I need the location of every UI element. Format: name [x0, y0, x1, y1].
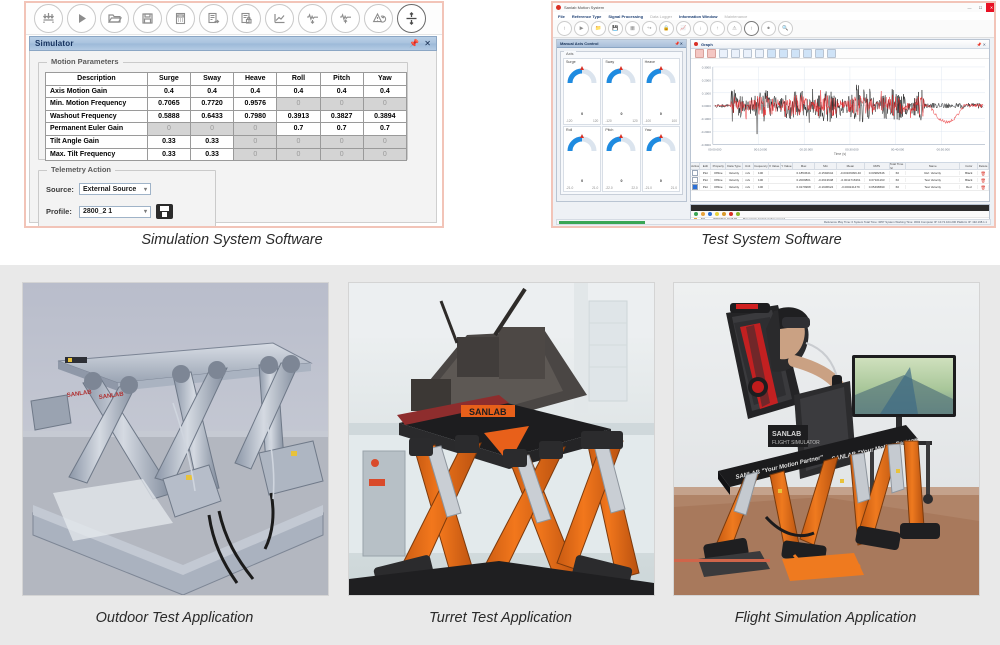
table-cell: m/s: [743, 171, 754, 175]
gauge-dial: [646, 65, 676, 85]
param-cell: 0: [363, 148, 406, 161]
profile-select[interactable]: 2800_2 1 ▾: [79, 206, 151, 218]
gauge-dial: [646, 133, 676, 153]
svg-text:00:20:000: 00:20:000: [800, 147, 814, 151]
figure-root: Simulator 📌 ✕ Motion Parameters Descript…: [0, 0, 1000, 645]
param-cell[interactable]: 0.33: [147, 148, 190, 161]
column-header-roll: Roll: [277, 73, 320, 86]
svg-text:00:30:000: 00:30:000: [845, 147, 859, 151]
maximize-button[interactable]: ☐: [975, 3, 986, 12]
axis-motion-icon[interactable]: ↕: [557, 21, 572, 36]
column-header-yaw: Yaw: [363, 73, 406, 86]
axis-group: Axis Surge0-120120Sway0-120120Heave0-100…: [560, 51, 683, 195]
active-checkbox[interactable]: [692, 170, 698, 176]
column-header: Color: [960, 163, 978, 169]
signal-table: ActiveEditPropertyData TypeUnitFrequency…: [691, 162, 989, 190]
calculator-icon[interactable]: [166, 4, 195, 33]
panel-title: Manual Axis Control: [560, 41, 599, 46]
gauge-roll[interactable]: Roll0-21.021.0: [563, 126, 601, 193]
menu-file[interactable]: File: [558, 14, 565, 19]
gauge-sway[interactable]: Sway0-120120: [602, 58, 640, 125]
table-cell: 60: [890, 185, 906, 189]
menu-maintenance: Maintenance: [725, 14, 748, 19]
table-cell: 0.07101193: [865, 178, 890, 182]
table-cell: Black: [960, 178, 978, 182]
svg-text:00:50:000: 00:50:000: [937, 147, 951, 151]
table-row[interactable]: PlotOfflineVelocitym/s1000.0179968-0.193…: [691, 184, 989, 191]
telemetry-action-group: Telemetry Action Source: External Source…: [38, 170, 216, 228]
table-cell: m/s: [743, 178, 754, 182]
table-cell: 0.03982646: [865, 171, 890, 175]
table-cell: Velocity: [726, 171, 742, 175]
param-cell[interactable]: 0.7: [277, 123, 320, 136]
gauge-label: Surge: [564, 60, 576, 64]
export-report-icon[interactable]: [199, 4, 228, 33]
param-cell: 0: [234, 135, 277, 148]
legend-icon[interactable]: [767, 49, 776, 58]
gauge-min: -21.0: [645, 186, 652, 190]
param-cell[interactable]: 0.4: [363, 85, 406, 98]
param-cell: 0: [320, 98, 363, 111]
svg-text:-0.2000: -0.2000: [701, 130, 711, 134]
table-row: Washout Frequency0.58880.64330.79800.391…: [46, 110, 407, 123]
param-cell[interactable]: 0.7720: [190, 98, 233, 111]
gauge-max: 21.0: [592, 186, 598, 190]
gauge-value: 0: [660, 179, 662, 183]
active-checkbox[interactable]: [692, 184, 698, 190]
column-header-surge: Surge: [147, 73, 190, 86]
table-cell: m/s: [743, 185, 754, 189]
menu-information-window[interactable]: Information Window: [679, 14, 717, 19]
zoom-out-icon[interactable]: [731, 49, 740, 58]
gauge-label: Roll: [564, 128, 572, 132]
caption-turret-test: Turret Test Application: [348, 610, 653, 626]
table-cell: Red: [960, 185, 978, 189]
param-cell: 0: [277, 135, 320, 148]
gauge-dial: [606, 133, 636, 153]
source-value: External Source: [83, 186, 136, 193]
axis-y-icon[interactable]: [815, 49, 824, 58]
table-cell: -0.1592644: [815, 171, 837, 175]
gauge-max: 22.0: [631, 186, 637, 190]
column-header-sway: Sway: [190, 73, 233, 86]
param-cell: 0: [190, 123, 233, 136]
record-icon[interactable]: ⏺: [761, 21, 776, 36]
active-cell[interactable]: [691, 177, 700, 183]
gauge-max: 21.0: [671, 186, 677, 190]
menu-data-logger: Data Logger: [650, 14, 672, 19]
gauge-dial: [567, 65, 597, 85]
table-cell: -0.0011716361: [837, 178, 865, 182]
manual-axis-control-titlebar: Manual Axis Control 📌✕: [557, 40, 686, 48]
param-cell[interactable]: 0.4: [320, 85, 363, 98]
table-cell: Test Velocity: [906, 185, 960, 189]
gauge-label: Sway: [603, 60, 614, 64]
source-select[interactable]: External Source ▾: [79, 183, 151, 195]
gauge-min: -100: [645, 119, 651, 123]
gauge-value: 0: [620, 179, 622, 183]
param-cell[interactable]: 0.7065: [147, 98, 190, 111]
message-log-toolbar: [691, 211, 989, 218]
gauge-dial: [567, 133, 597, 153]
delete-cell[interactable]: 🗑: [978, 185, 989, 190]
param-cell[interactable]: 0.7980: [234, 110, 277, 123]
svg-text:0.3000: 0.3000: [702, 65, 711, 69]
svg-text:SANLAB: SANLAB: [772, 431, 801, 438]
table-row: Tilt Angle Gain0.330.330000: [46, 135, 407, 148]
active-cell[interactable]: [691, 184, 700, 190]
row-label: Washout Frequency: [46, 110, 148, 123]
menu-reference-type[interactable]: Reference Type: [572, 14, 602, 19]
pin-icon[interactable]: 📌 ✕: [977, 42, 986, 47]
outdoor-hexapod-photo: SANLAB SANLAB: [22, 282, 329, 596]
close-icon[interactable]: ✕: [424, 40, 431, 48]
play-icon[interactable]: ▶: [574, 21, 589, 36]
row-label: Permanent Euler Gain: [46, 123, 148, 136]
svg-text:00:40:000: 00:40:000: [891, 147, 905, 151]
param-cell[interactable]: 0.3913: [277, 110, 320, 123]
gauge-label: Heave: [643, 60, 655, 64]
copy-icon[interactable]: [715, 212, 719, 216]
svg-text:SANLAB: SANLAB: [469, 407, 507, 417]
source-row: Source: External Source ▾: [39, 183, 215, 195]
heave-axis-icon[interactable]: [397, 4, 426, 33]
caption-outdoor-test: Outdoor Test Application: [22, 610, 327, 626]
table-cell: 60: [890, 178, 906, 182]
svg-text:00:10:000: 00:10:000: [754, 147, 768, 151]
param-cell[interactable]: 0.7: [320, 123, 363, 136]
param-cell: 0: [320, 148, 363, 161]
signal-down-icon[interactable]: [298, 4, 327, 33]
param-cell[interactable]: 0.33: [190, 135, 233, 148]
active-cell[interactable]: [691, 170, 700, 176]
status-bar: Reference Play Time: 0 System Total Time…: [556, 219, 991, 225]
signal-down-icon[interactable]: ↓: [693, 21, 708, 36]
table-row[interactable]: PlotOfflineVelocitym/s1000.2009801-0.291…: [691, 177, 989, 184]
warning-filter-icon[interactable]: [701, 212, 705, 216]
manual-axis-control-panel: Manual Axis Control 📌✕ Axis Surge0-12012…: [556, 39, 687, 202]
graph-icon: [694, 42, 698, 46]
column-header: Max: [793, 163, 815, 169]
gauge-dial: [606, 65, 636, 85]
signal-up-icon[interactable]: [331, 4, 360, 33]
progress-bar: [559, 221, 645, 224]
column-header: Mean: [837, 163, 865, 169]
param-cell[interactable]: 0.3894: [363, 110, 406, 123]
gauge-surge[interactable]: Surge0-120120: [563, 58, 601, 125]
table-row: Max. Tilt Frequency0.330.330000: [46, 148, 407, 161]
table-cell: 100: [754, 178, 769, 182]
axis-x-icon[interactable]: [803, 49, 812, 58]
column-header: X Value: [769, 163, 781, 169]
app-logo-icon: [556, 5, 561, 10]
gauge-max: 120: [593, 119, 598, 123]
simulator-panel-titlebar: Simulator 📌 ✕: [29, 36, 437, 51]
cursor-icon[interactable]: [755, 49, 764, 58]
table-cell: -0.1936624: [815, 185, 837, 189]
table-cell: 60: [890, 171, 906, 175]
close-button[interactable]: ✕: [986, 3, 996, 12]
param-cell[interactable]: 0.3827: [320, 110, 363, 123]
table-cell: Test Velocity: [906, 178, 960, 182]
chart-svg: 0.30000.20000.10000.0000-0.1000-0.2000-0…: [691, 59, 989, 154]
column-header-description: Description: [46, 73, 148, 86]
heave-axis-icon[interactable]: ↕: [744, 21, 759, 36]
trash-icon[interactable]: 🗑: [981, 185, 986, 190]
graph-panel: Graph 📌 ✕: [690, 39, 990, 202]
row-label: Tilt Angle Gain: [46, 135, 148, 148]
param-cell[interactable]: 0.33: [147, 135, 190, 148]
motion-parameters-title: Motion Parameters: [47, 57, 123, 66]
chart-icon[interactable]: [265, 4, 294, 33]
menu-signal-processing[interactable]: Signal Processing: [608, 14, 643, 19]
chevron-down-icon: ▾: [144, 186, 147, 193]
search-icon[interactable]: 🔍: [778, 21, 793, 36]
axis-group-label: Axis: [564, 51, 576, 56]
table-cell: Velocity: [726, 178, 742, 182]
param-cell: 0: [277, 98, 320, 111]
calculator-icon[interactable]: ▦: [625, 21, 640, 36]
column-header: Unit: [743, 163, 754, 169]
test-software-screenshot: Sanlab Motion System — ☐ ✕ FileReference…: [551, 1, 996, 228]
table-cell: Offline: [711, 185, 726, 189]
refresh-icon[interactable]: [736, 212, 740, 216]
play-icon[interactable]: [67, 4, 96, 33]
table-cell: Plot: [700, 178, 711, 182]
table-cell: Velocity: [726, 185, 742, 189]
table-cell: 100: [754, 185, 769, 189]
save-profile-icon[interactable]: [156, 204, 173, 219]
column-header: Active: [691, 163, 700, 169]
gauge-label: Yaw: [643, 128, 652, 132]
delete-cell[interactable]: 🗑: [978, 178, 989, 183]
turret-hexapod-photo: SANLAB: [348, 282, 655, 596]
table-cell: 0.2009801: [793, 178, 815, 182]
simulator-panel-body: Motion Parameters DescriptionSurgeSwayHe…: [29, 51, 437, 223]
table-row: Permanent Euler Gain0000.70.70.7: [46, 123, 407, 136]
column-header: Edit: [700, 163, 711, 169]
svg-text:0.2000: 0.2000: [702, 78, 711, 82]
lock-report-icon[interactable]: [232, 4, 261, 33]
gauge-min: -120: [605, 119, 611, 123]
chevron-down-icon: ▾: [144, 208, 147, 215]
warning-reset-icon[interactable]: ⚠: [727, 21, 742, 36]
param-cell[interactable]: 0.4: [190, 85, 233, 98]
column-header: Min: [815, 163, 837, 169]
column-header: Name: [906, 163, 960, 169]
gauge-label: Pitch: [603, 128, 613, 132]
param-cell: 0: [320, 135, 363, 148]
source-label: Source:: [46, 185, 74, 194]
flight-simulator-photo: SANLAB FLIGHT SIMULATOR SANLAB "Your Mot…: [673, 282, 980, 596]
panel-title: Simulator: [30, 39, 74, 48]
gauge-value: 0: [620, 112, 622, 116]
column-header: Total Time (s): [890, 163, 906, 169]
param-cell[interactable]: 0.9576: [234, 98, 277, 111]
pin-icon[interactable]: 📌: [409, 40, 419, 48]
folder-open-icon[interactable]: [100, 4, 129, 33]
sim-toolbar: [26, 3, 444, 35]
gauge-min: -22.0: [605, 186, 612, 190]
clear-icon[interactable]: [729, 212, 733, 216]
signal-up-icon[interactable]: ↑: [710, 21, 725, 36]
gauge-value: 0: [581, 112, 583, 116]
telemetry-action-title: Telemetry Action: [47, 165, 115, 174]
marker-icon[interactable]: [791, 49, 800, 58]
delete-cell[interactable]: 🗑: [978, 171, 989, 176]
chart-toolbar: [691, 49, 989, 59]
pin-icon[interactable]: 📌✕: [675, 41, 683, 46]
table-cell: Offline: [711, 171, 726, 175]
column-header: Frequency: [754, 163, 769, 169]
panel-title: Graph: [701, 42, 713, 47]
window-title: Sanlab Motion System: [564, 5, 604, 10]
motion-parameters-table: DescriptionSurgeSwayHeaveRollPitchYaw Ax…: [45, 72, 407, 161]
svg-text:0.0000: 0.0000: [702, 104, 711, 108]
svg-text:-0.1000: -0.1000: [701, 117, 711, 121]
svg-text:-0.3000: -0.3000: [701, 143, 711, 147]
row-label: Axis Motion Gain: [46, 85, 148, 98]
gauge-max: 120: [632, 119, 637, 123]
table-cell: 0.05498690: [865, 185, 890, 189]
graph-panel-titlebar: Graph 📌 ✕: [691, 40, 989, 49]
table-cell: Offline: [711, 178, 726, 182]
save-disk-icon[interactable]: [133, 4, 162, 33]
zoom-in-icon[interactable]: [719, 49, 728, 58]
profile-label: Profile:: [46, 207, 74, 216]
trash-icon[interactable]: 🗑: [981, 178, 986, 183]
table-cell: -0.000241479: [837, 185, 865, 189]
param-cell: 0: [147, 123, 190, 136]
column-header: Delete: [978, 163, 989, 169]
param-cell[interactable]: 0.5888: [147, 110, 190, 123]
test-toolbar: ↕▶📁💾▦↪🔒📈↓↑⚠↕⏺🔍: [553, 20, 996, 38]
warning-reset-icon[interactable]: [364, 4, 393, 33]
gauge-min: -21.0: [566, 186, 573, 190]
caption-simulation-software: Simulation System Software: [24, 232, 440, 248]
gauge-max: 100: [672, 119, 677, 123]
column-header: Property: [711, 163, 726, 169]
motion-parameters-group: Motion Parameters DescriptionSurgeSwayHe…: [38, 62, 408, 160]
table-row[interactable]: PlotOfflineVelocitym/s1000.1853641-0.159…: [691, 170, 989, 177]
table-cell: 0.0179968: [793, 185, 815, 189]
column-header: Y Value: [781, 163, 793, 169]
row-label: Min. Motion Frequency: [46, 98, 148, 111]
zoom-fit-icon[interactable]: [743, 49, 752, 58]
param-cell: 0: [363, 135, 406, 148]
settings-icon[interactable]: [827, 49, 836, 58]
svg-text:FLIGHT SIMULATOR: FLIGHT SIMULATOR: [772, 440, 820, 446]
param-cell: 0: [277, 148, 320, 161]
axis-motion-icon[interactable]: [34, 4, 63, 33]
table-row: Axis Motion Gain0.40.40.40.40.40.4: [46, 85, 407, 98]
chart-icon[interactable]: 📈: [676, 21, 691, 36]
param-cell[interactable]: 0.6433: [190, 110, 233, 123]
column-header-pitch: Pitch: [320, 73, 363, 86]
column-header: Data Type: [726, 163, 742, 169]
pan-icon[interactable]: [695, 49, 704, 58]
pan-back-icon[interactable]: [707, 49, 716, 58]
gauge-value: 0: [581, 179, 583, 183]
param-cell: 0: [363, 98, 406, 111]
param-cell[interactable]: 0.33: [190, 148, 233, 161]
export-icon[interactable]: [722, 212, 726, 216]
column-header-heave: Heave: [234, 73, 277, 86]
table-cell: 0.1853641: [793, 171, 815, 175]
table-cell: -0.2913648: [815, 178, 837, 182]
table-cell: Ref. Velocity: [906, 171, 960, 175]
profile-row: Profile: 2800_2 1 ▾: [39, 204, 215, 219]
table-cell: Plot: [700, 185, 711, 189]
simulation-software-screenshot: Simulator 📌 ✕ Motion Parameters Descript…: [24, 1, 444, 228]
gauge-heave[interactable]: Heave0-100100: [642, 58, 680, 125]
param-cell: 0: [234, 148, 277, 161]
table-cell: Plot: [700, 171, 711, 175]
trash-icon[interactable]: 🗑: [981, 171, 986, 176]
table-cell: -0.00166099.40: [837, 171, 865, 175]
table-header-row: ActiveEditPropertyData TypeUnitFrequency…: [691, 163, 989, 170]
minimize-button[interactable]: —: [964, 3, 975, 12]
table-row: Min. Motion Frequency0.70650.77200.95760…: [46, 98, 407, 111]
row-label: Max. Tilt Frequency: [46, 148, 148, 161]
param-cell[interactable]: 0.4: [234, 85, 277, 98]
column-header: RMS: [865, 163, 890, 169]
info-filter-icon[interactable]: [694, 212, 698, 216]
param-cell[interactable]: 0.4: [147, 85, 190, 98]
param-cell: 0: [234, 123, 277, 136]
gauge-min: -120: [566, 119, 572, 123]
caption-flight-simulation: Flight Simulation Application: [673, 610, 978, 626]
param-cell[interactable]: 0.7: [363, 123, 406, 136]
lock-report-icon[interactable]: 🔒: [659, 21, 674, 36]
folder-open-icon[interactable]: 📁: [591, 21, 606, 36]
gauge-pitch[interactable]: Pitch0-22.022.0: [602, 126, 640, 193]
table-header-row: DescriptionSurgeSwayHeaveRollPitchYaw: [46, 73, 407, 86]
save-disk-icon[interactable]: 💾: [608, 21, 623, 36]
gauge-value: 0: [660, 112, 662, 116]
profile-value: 2800_2 1: [83, 208, 112, 215]
table-cell: Black: [960, 171, 978, 175]
gauge-yaw[interactable]: Yaw0-21.021.0: [642, 126, 680, 193]
select-all-icon[interactable]: [708, 212, 712, 216]
param-cell[interactable]: 0.4: [277, 85, 320, 98]
svg-text:00:00:000: 00:00:000: [708, 147, 722, 151]
status-text: Reference Play Time: 0 System Total Time…: [824, 220, 990, 224]
export-report-icon[interactable]: ↪: [642, 21, 657, 36]
active-checkbox[interactable]: [692, 177, 698, 183]
svg-text:0.1000: 0.1000: [702, 91, 711, 95]
velocity-chart: 0.30000.20000.10000.0000-0.1000-0.2000-0…: [691, 59, 989, 155]
caption-test-software: Test System Software: [551, 232, 992, 248]
table-cell: 100: [754, 171, 769, 175]
line-style-icon[interactable]: [779, 49, 788, 58]
